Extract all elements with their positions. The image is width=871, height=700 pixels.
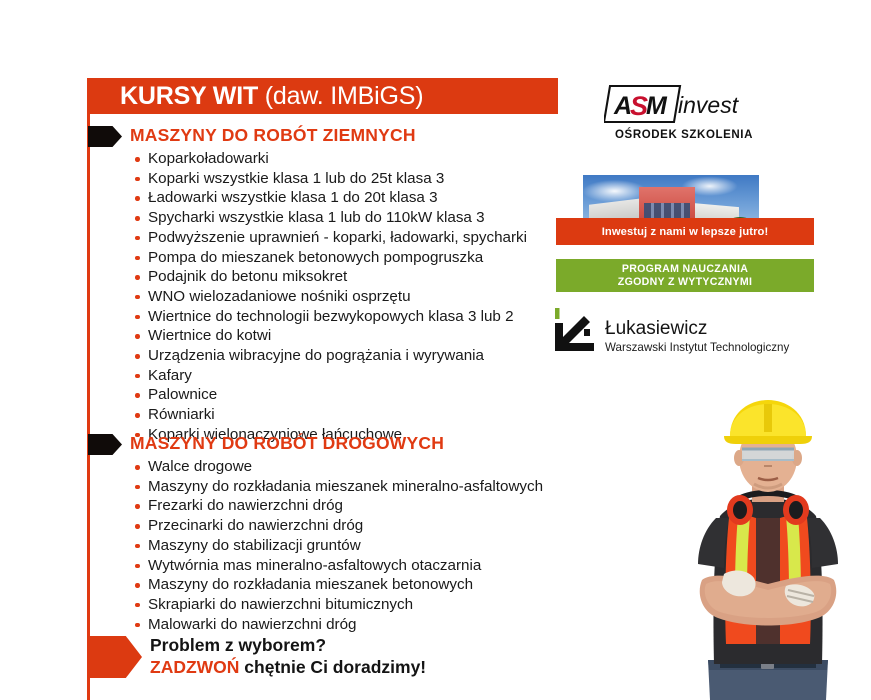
photo-banner: Inwestuj z nami w lepsze jutro! <box>556 218 814 245</box>
callout-highlight: ZADZWOŃ <box>150 657 239 677</box>
header-bar: KURSY WIT (daw. IMBiGS) <box>88 78 558 114</box>
section-roadworks: MASZYNY DO ROBÓT DROGOWYCH Walce drogowe… <box>88 432 497 631</box>
list-item: Równiarki <box>134 405 527 425</box>
asm-logo-subtitle: OŚRODEK SZKOLENIA <box>604 129 764 141</box>
list-item: Spycharki wszystkie klasa 1 lub do 110kW… <box>134 208 527 228</box>
lukasiewicz-text: Łukasiewicz Warszawski Instytut Technolo… <box>605 318 789 356</box>
lukasiewicz-logo: Łukasiewicz Warszawski Instytut Technolo… <box>553 306 811 362</box>
list-item: Wiertnice do technologii bezwykopowych k… <box>134 307 527 327</box>
asm-invest-logo: A S M invest OŚRODEK SZKOLENIA <box>604 82 764 141</box>
program-badge-line1: PROGRAM NAUCZANIA <box>622 263 748 276</box>
lukasiewicz-name: Łukasiewicz <box>605 318 789 340</box>
arrow-marker-icon <box>88 126 122 147</box>
list-item: Maszyny do rozkładania mieszanek betonow… <box>134 575 543 595</box>
list-item: Podajnik do betonu miksokret <box>134 267 527 287</box>
list-item: Maszyny do stabilizacji gruntów <box>134 536 543 556</box>
arrow-marker-red-icon <box>88 636 142 678</box>
lukasiewicz-subtitle: Warszawski Instytut Technologiczny <box>605 340 789 356</box>
course-list-roadworks: Walce drogowe Maszyny do rozkładania mie… <box>134 457 543 634</box>
list-item: Ładowarki wszystkie klasa 1 do 20t klasa… <box>134 188 527 208</box>
page-title-strong: KURSY WIT <box>120 82 258 110</box>
section-header: MASZYNY DO ROBÓT DROGOWYCH <box>88 432 497 454</box>
section-title: MASZYNY DO ROBÓT DROGOWYCH <box>130 432 444 454</box>
callout-line1: Problem z wyborem? <box>150 634 426 656</box>
list-item: Wytwórnia mas mineralno-asfaltowych otac… <box>134 556 543 576</box>
callout-rest: chętnie Ci doradzimy! <box>239 657 426 677</box>
page-title: KURSY WIT (daw. IMBiGS) <box>88 84 423 109</box>
section-header: MASZYNY DO ROBÓT ZIEMNYCH <box>88 124 481 146</box>
list-item: Malowarki do nawierzchni dróg <box>134 615 543 635</box>
list-item: Skrapiarki do nawierzchni bitumicznych <box>134 595 543 615</box>
photo-banner-text: Inwestuj z nami w lepsze jutro! <box>602 226 769 238</box>
program-badge-line2: ZGODNY Z WYTYCZNYMI <box>618 276 752 289</box>
list-item: Przecinarki do nawierzchni dróg <box>134 516 543 536</box>
callout-line2: ZADZWOŃ chętnie Ci doradzimy! <box>150 656 426 678</box>
list-item: Podwyższenie uprawnień - koparki, ładowa… <box>134 228 527 248</box>
list-item: Koparki wszystkie klasa 1 lub do 25t kla… <box>134 169 527 189</box>
flyer-page: KURSY WIT (daw. IMBiGS) MASZYNY DO ROBÓT… <box>0 0 871 700</box>
list-item: Maszyny do rozkładania mieszanek mineral… <box>134 477 543 497</box>
construction-worker-photo <box>668 398 871 700</box>
lukasiewicz-logo-svg <box>553 306 607 358</box>
asm-logo-mark-icon: A S M invest <box>604 82 756 126</box>
list-item: Koparkoładowarki <box>134 149 527 169</box>
list-item: Wiertnice do kotwi <box>134 326 527 346</box>
worker-illustration-svg <box>668 398 871 700</box>
list-item: WNO wielozadaniowe nośniki osprzętu <box>134 287 527 307</box>
arrow-marker-icon <box>88 434 122 455</box>
list-item: Palownice <box>134 385 527 405</box>
callout-text: Problem z wyborem? ZADZWOŃ chętnie Ci do… <box>150 634 426 678</box>
list-item: Urządzenia wibracyjne do pogrążania i wy… <box>134 346 527 366</box>
program-badge: PROGRAM NAUCZANIA ZGODNY Z WYTYCZNYMI <box>556 259 814 292</box>
list-item: Pompa do mieszanek betonowych pompogrusz… <box>134 248 527 268</box>
page-title-light: (daw. IMBiGS) <box>258 82 423 110</box>
svg-text:invest: invest <box>678 92 740 118</box>
list-item: Walce drogowe <box>134 457 543 477</box>
list-item: Kafary <box>134 366 527 386</box>
lukasiewicz-mark-icon <box>553 306 607 358</box>
asm-logo-svg: A S M invest <box>604 82 756 126</box>
list-item: Frezarki do nawierzchni dróg <box>134 496 543 516</box>
section-earthworks: MASZYNY DO ROBÓT ZIEMNYCH Koparkoładowar… <box>88 124 481 442</box>
svg-text:M: M <box>646 92 668 120</box>
section-title: MASZYNY DO ROBÓT ZIEMNYCH <box>130 124 416 146</box>
course-list-earthworks: Koparkoładowarki Koparki wszystkie klasa… <box>134 149 527 445</box>
